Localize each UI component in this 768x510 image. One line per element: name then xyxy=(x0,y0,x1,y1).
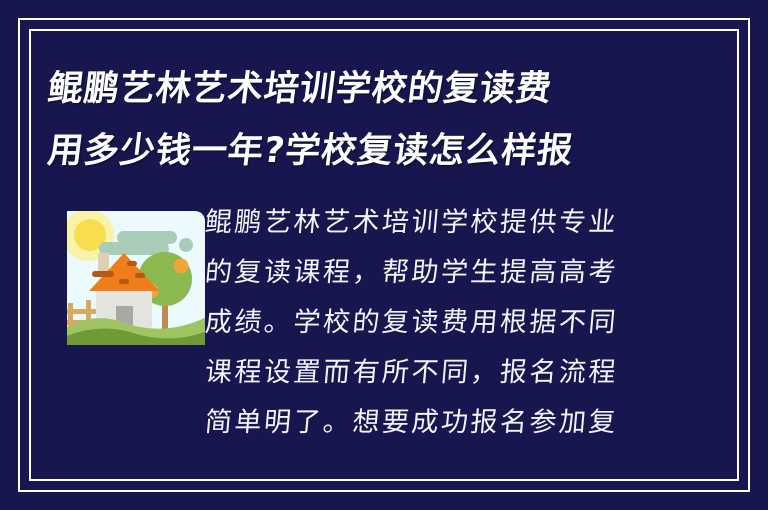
body-line-4: 课程设置而有所不同，报名流程 xyxy=(203,348,659,398)
house-scene-icon xyxy=(55,205,207,355)
house-illustration xyxy=(55,205,207,355)
headline-line-2: 用多少钱一年?学校复读怎么样报 xyxy=(44,120,652,182)
body-paragraph: 鲲鹏艺林艺术培训学校提供专业 的复读课程，帮助学生提高高考 成绩。学校的复读费用… xyxy=(205,198,657,448)
content-area: 鲲鹏艺林艺术培训学校提供专业 的复读课程，帮助学生提高高考 成绩。学校的复读费用… xyxy=(0,198,768,468)
body-line-5: 简单明了。想要成功报名参加复 xyxy=(203,398,659,448)
body-line-2: 的复读课程，帮助学生提高高考 xyxy=(203,248,659,298)
body-line-1: 鲲鹏艺林艺术培训学校提供专业 xyxy=(203,198,659,248)
body-line-3: 成绩。学校的复读费用根据不同 xyxy=(203,298,659,348)
page-title: 鲲鹏艺林艺术培训学校的复读费 用多少钱一年?学校复读怎么样报 xyxy=(48,58,648,182)
headline-line-1: 鲲鹏艺林艺术培训学校的复读费 xyxy=(44,58,652,120)
poster-canvas: 鲲鹏艺林艺术培训学校的复读费 用多少钱一年?学校复读怎么样报 xyxy=(0,0,768,510)
